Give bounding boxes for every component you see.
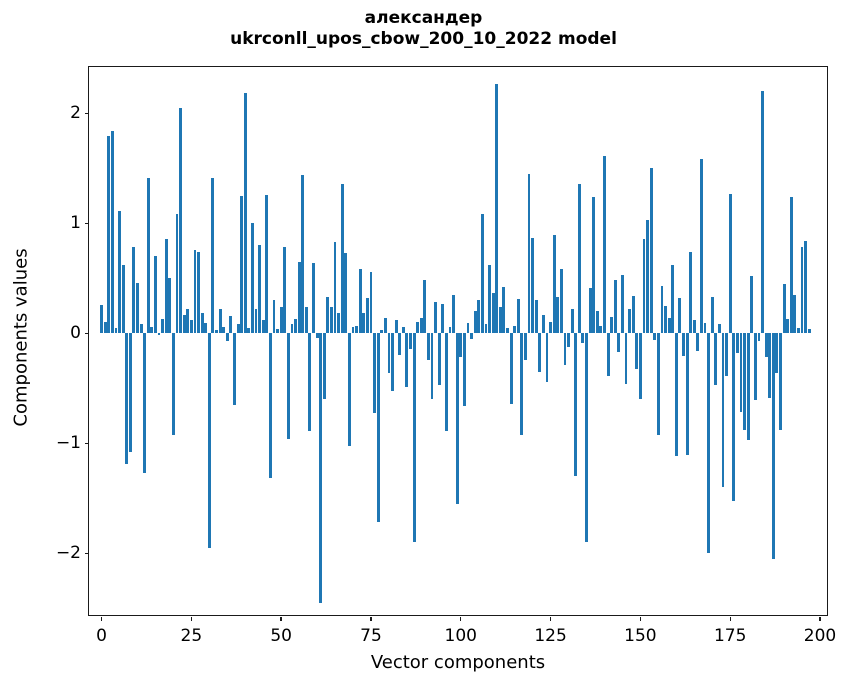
x-tick-mark	[460, 617, 461, 621]
bar	[125, 333, 128, 464]
x-tick-label: 50	[241, 625, 321, 647]
bar	[370, 272, 373, 334]
x-tick-label: 150	[600, 625, 680, 647]
bar	[219, 309, 222, 333]
bar	[650, 168, 653, 333]
bar	[804, 241, 807, 333]
bar	[589, 288, 592, 333]
bar	[319, 333, 322, 603]
bar	[452, 295, 455, 334]
bar	[269, 333, 272, 478]
bar	[714, 333, 717, 385]
bar	[255, 309, 258, 333]
bar	[488, 265, 491, 333]
y-tick-label: −2	[21, 542, 81, 564]
x-tick-mark	[280, 617, 281, 621]
bar	[470, 333, 473, 339]
bar	[377, 333, 380, 522]
bar	[395, 320, 398, 333]
bar	[524, 333, 527, 359]
bar	[729, 194, 732, 334]
x-tick-label: 200	[780, 625, 847, 647]
bar	[607, 333, 610, 376]
x-tick-label: 175	[690, 625, 770, 647]
bar	[463, 333, 466, 406]
bar	[556, 297, 559, 333]
bar	[305, 307, 308, 333]
bar	[409, 333, 412, 348]
bar	[194, 250, 197, 334]
bar	[330, 307, 333, 333]
bar	[549, 322, 552, 333]
bar	[197, 252, 200, 333]
bar	[265, 195, 268, 334]
bar	[388, 333, 391, 373]
bar	[546, 333, 549, 381]
chart-title: александер ukrconll_upos_cbow_200_10_202…	[0, 8, 847, 50]
x-tick-mark	[191, 617, 192, 621]
x-tick-mark	[640, 617, 641, 621]
chart-title-line-1: александер	[0, 8, 847, 29]
bar	[797, 328, 800, 334]
bar	[801, 247, 804, 333]
bar	[233, 333, 236, 405]
bar	[100, 305, 103, 334]
bar	[542, 315, 545, 334]
bar	[675, 333, 678, 456]
bar	[560, 269, 563, 333]
bar	[201, 313, 204, 333]
bar	[176, 214, 179, 333]
bar	[258, 245, 261, 333]
bar	[481, 214, 484, 333]
bar	[341, 184, 344, 334]
bar	[251, 223, 254, 333]
bar	[172, 333, 175, 435]
bar	[632, 296, 635, 333]
bar	[337, 313, 340, 333]
bar	[678, 298, 681, 333]
bar	[287, 333, 290, 439]
bar	[312, 263, 315, 333]
bar	[107, 136, 110, 333]
bar	[204, 323, 207, 333]
bar	[635, 333, 638, 369]
matplotlib-figure: александер ukrconll_upos_cbow_200_10_202…	[0, 0, 847, 696]
x-tick-mark	[730, 617, 731, 621]
bar	[725, 333, 728, 376]
bar	[592, 197, 595, 333]
bar	[793, 295, 796, 334]
bar	[621, 275, 624, 333]
bar	[434, 302, 437, 333]
bar	[643, 239, 646, 334]
x-tick-label: 100	[421, 625, 501, 647]
bar	[136, 283, 139, 334]
y-tick-mark	[85, 223, 89, 224]
bar	[499, 307, 502, 333]
bar	[790, 197, 793, 333]
bar	[682, 333, 685, 356]
bar	[431, 333, 434, 399]
bar	[158, 333, 161, 335]
bar	[740, 333, 743, 412]
y-tick-mark	[85, 333, 89, 334]
bar	[535, 300, 538, 333]
bar	[567, 333, 570, 347]
bar	[628, 309, 631, 333]
bar	[115, 328, 118, 334]
bar	[513, 326, 516, 334]
bar	[416, 322, 419, 333]
x-tick-mark	[101, 617, 102, 621]
bar	[786, 319, 789, 333]
bar	[118, 211, 121, 333]
bar	[459, 333, 462, 357]
bar	[596, 311, 599, 333]
bar	[456, 333, 459, 504]
bar	[517, 299, 520, 333]
bar	[510, 333, 513, 403]
bar	[758, 333, 761, 341]
bar	[276, 329, 279, 333]
bar	[122, 265, 125, 333]
bar	[553, 235, 556, 333]
bar	[614, 280, 617, 333]
bar	[495, 84, 498, 334]
bar	[743, 333, 746, 430]
bar	[373, 333, 376, 413]
bar	[783, 284, 786, 334]
bar	[646, 220, 649, 333]
bar	[308, 333, 311, 431]
bar	[161, 319, 164, 333]
bar	[262, 320, 265, 333]
bar	[154, 256, 157, 333]
bar	[808, 329, 811, 333]
bar	[700, 159, 703, 333]
bar	[571, 309, 574, 333]
bar	[334, 242, 337, 333]
bar	[215, 330, 218, 333]
bar	[574, 333, 577, 476]
bar	[183, 315, 186, 334]
bar	[520, 333, 523, 435]
bar	[581, 333, 584, 343]
bar	[639, 333, 642, 399]
bar	[449, 327, 452, 334]
y-tick-mark	[85, 443, 89, 444]
bar	[298, 262, 301, 334]
bar	[111, 131, 114, 333]
bar	[186, 309, 189, 333]
x-tick-mark	[550, 617, 551, 621]
bar	[765, 333, 768, 357]
bar	[104, 322, 107, 333]
bar	[190, 320, 193, 333]
plot-axes: −2−1012 0255075100125150175200	[88, 66, 828, 616]
bar	[247, 328, 250, 334]
bar	[732, 333, 735, 501]
bar-series	[89, 67, 827, 615]
bar	[402, 327, 405, 334]
bar	[768, 333, 771, 398]
bar	[222, 327, 225, 334]
x-axis-label: Vector components	[88, 652, 828, 673]
bar	[326, 297, 329, 333]
bar	[722, 333, 725, 487]
bar	[420, 318, 423, 333]
x-tick-label: 125	[511, 625, 591, 647]
bar	[779, 333, 782, 430]
bar	[362, 313, 365, 333]
bar	[750, 276, 753, 333]
bar	[294, 319, 297, 333]
bar	[438, 333, 441, 385]
y-axis-label: Components values	[11, 188, 32, 488]
bar	[405, 333, 408, 387]
bar	[603, 156, 606, 333]
bar	[467, 323, 470, 333]
bar	[711, 297, 714, 333]
x-tick-mark	[370, 617, 371, 621]
bar	[366, 298, 369, 333]
bar	[208, 333, 211, 548]
bar	[506, 328, 509, 334]
bar	[355, 326, 358, 334]
bar	[168, 278, 171, 333]
bar	[477, 300, 480, 333]
bar	[474, 311, 477, 333]
bar	[280, 307, 283, 333]
bar	[323, 333, 326, 399]
bar	[492, 293, 495, 334]
bar	[538, 333, 541, 372]
bar	[165, 239, 168, 334]
bar	[625, 333, 628, 384]
bar	[617, 333, 620, 352]
bar	[150, 327, 153, 334]
bar	[316, 333, 319, 337]
bar	[344, 253, 347, 333]
y-tick-mark	[85, 553, 89, 554]
bar	[398, 333, 401, 355]
bar	[237, 324, 240, 333]
bar	[143, 333, 146, 473]
bar	[531, 238, 534, 334]
bar	[291, 324, 294, 333]
bar	[441, 304, 444, 334]
bar	[240, 196, 243, 334]
bar	[380, 330, 383, 333]
y-tick-mark	[85, 113, 89, 114]
x-tick-mark	[819, 617, 820, 621]
bar	[696, 333, 699, 351]
bar	[502, 287, 505, 333]
bar	[147, 178, 150, 333]
bar	[528, 174, 531, 334]
bar	[693, 320, 696, 333]
bar	[301, 175, 304, 333]
bar	[775, 333, 778, 373]
bar	[359, 269, 362, 333]
bar	[179, 108, 182, 334]
bar	[132, 247, 135, 333]
bar	[689, 252, 692, 333]
bar	[718, 324, 721, 333]
bar	[384, 318, 387, 333]
bar	[661, 286, 664, 333]
bar	[445, 333, 448, 431]
bar	[599, 326, 602, 334]
x-tick-label: 25	[151, 625, 231, 647]
bar	[140, 324, 143, 333]
bar	[578, 184, 581, 334]
bar	[686, 333, 689, 455]
bar	[348, 333, 351, 446]
bar	[226, 333, 229, 341]
x-tick-label: 75	[331, 625, 411, 647]
bar	[273, 300, 276, 333]
bar	[747, 333, 750, 440]
bar	[610, 317, 613, 334]
bar	[671, 265, 674, 333]
bar	[211, 178, 214, 333]
bar	[564, 333, 567, 365]
bar	[352, 327, 355, 334]
bar	[391, 333, 394, 391]
bar	[704, 323, 707, 333]
bar	[754, 333, 757, 400]
bar	[761, 91, 764, 333]
bar	[653, 333, 656, 340]
bar	[485, 324, 488, 333]
bar	[423, 280, 426, 333]
bar	[664, 306, 667, 334]
bar	[772, 333, 775, 559]
bar	[283, 247, 286, 333]
y-tick-label: 2	[21, 102, 81, 124]
bar	[736, 333, 739, 353]
x-tick-label: 0	[62, 625, 142, 647]
bar	[585, 333, 588, 542]
bar	[427, 333, 430, 359]
chart-title-line-2: ukrconll_upos_cbow_200_10_2022 model	[0, 29, 847, 50]
bar	[668, 318, 671, 333]
bar	[244, 93, 247, 333]
bar	[129, 333, 132, 452]
bar	[413, 333, 416, 542]
bar	[707, 333, 710, 553]
bar	[229, 316, 232, 334]
bar	[657, 333, 660, 435]
